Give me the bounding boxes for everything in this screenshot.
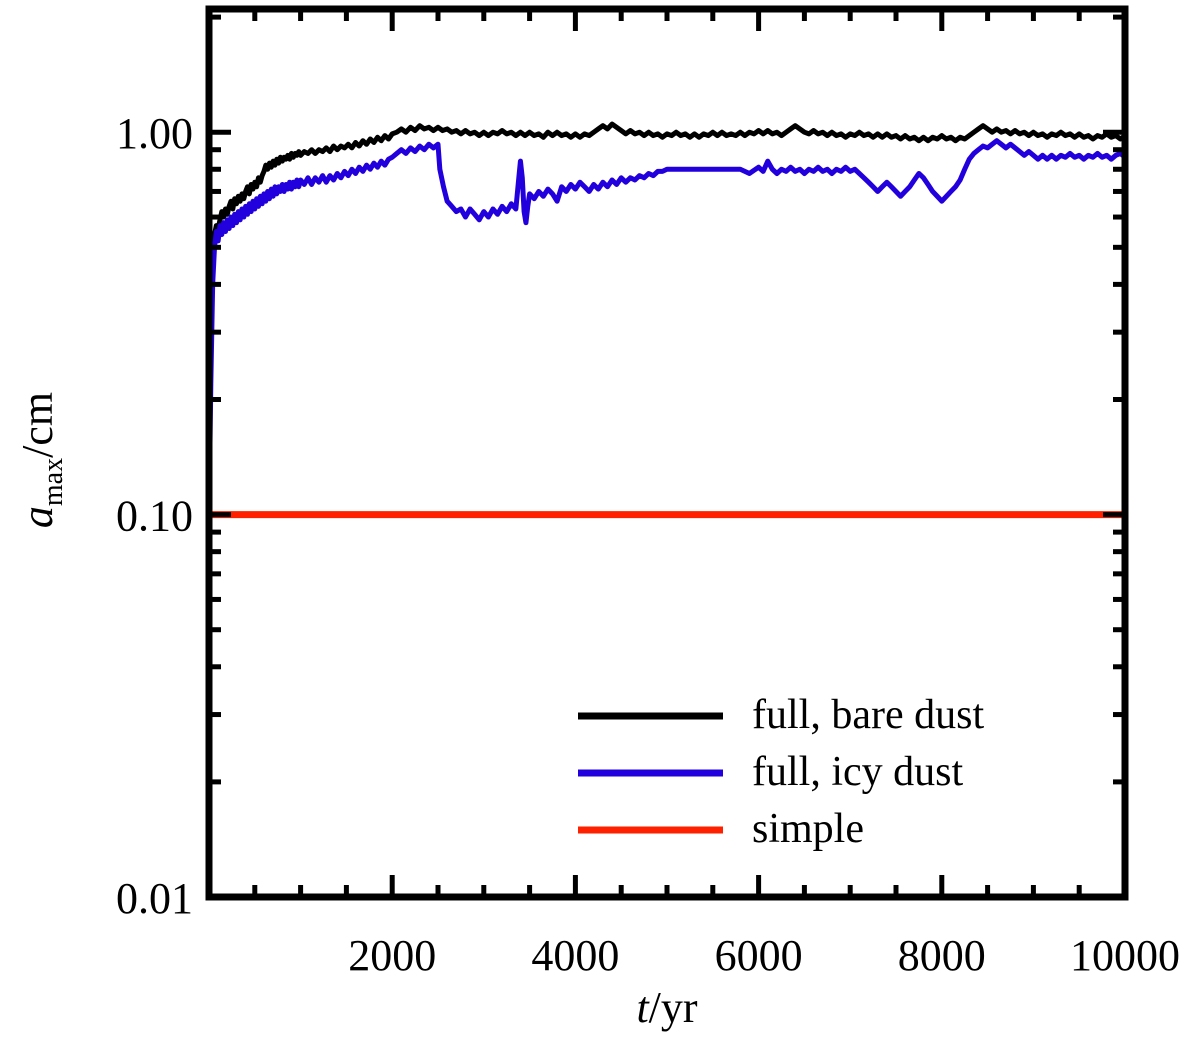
y-axis-title: amax/cm [13,392,69,528]
x-tick-label: 8000 [898,931,986,980]
plot-area: 2000400060008000100001.000.100.01 full, … [0,0,1200,1056]
legend-label-2: simple [752,806,864,852]
y-tick-label: 1.00 [116,109,193,158]
legend: full, bare dustfull, icy dustsimple [578,692,984,852]
series-line-0 [209,124,1125,515]
series-line-1 [209,141,1125,515]
x-tick-label: 4000 [531,931,619,980]
x-axis-title: t/yr [636,983,697,1032]
y-tick-label: 0.10 [116,492,193,541]
x-tick-label: 6000 [715,931,803,980]
x-tick-label: 10000 [1070,931,1180,980]
x-tick-label: 2000 [348,931,436,980]
y-tick-label: 0.01 [116,874,193,923]
series-layer [209,124,1125,515]
axis-frame [209,9,1125,897]
legend-label-0: full, bare dust [752,692,984,738]
figure-canvas: 2000400060008000100001.000.100.01 full, … [0,0,1200,1056]
plot-frame [209,9,1125,897]
tick-label-layer: 2000400060008000100001.000.100.01 [116,109,1180,980]
legend-label-1: full, icy dust [752,749,963,795]
